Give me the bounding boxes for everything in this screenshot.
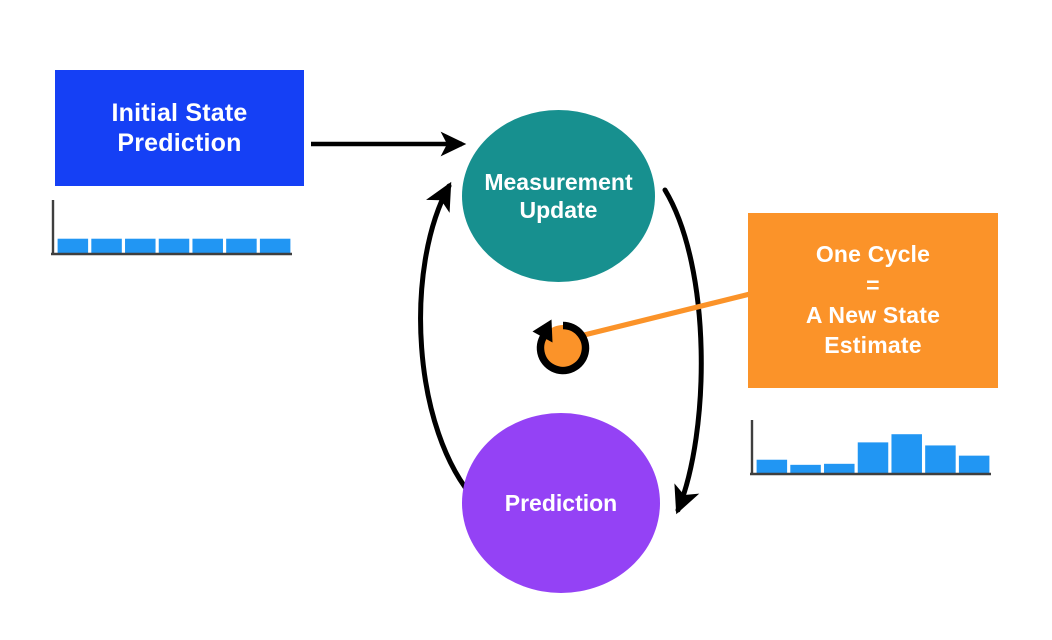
cycle-marker-icon [533,320,587,372]
bar [790,465,821,473]
initial-state-distribution-chart [46,200,296,262]
new-state-estimate-distribution-chart [745,420,995,482]
prediction-circle: Prediction [462,413,660,593]
one-cycle-equals: = [866,270,880,301]
one-cycle-line4: Estimate [824,331,921,361]
bar-chart-svg [46,200,296,262]
prediction-label: Prediction [505,489,617,517]
initial-state-line2: Prediction [117,128,241,159]
bar [925,445,956,473]
bar [91,239,122,253]
initial-state-line1: Initial State [112,98,248,129]
leader-line-cycle-to-label [576,294,750,337]
bar-chart-svg [745,420,995,482]
diagram-canvas: Initial State Prediction Measurement Upd… [0,0,1052,640]
one-cycle-line1: One Cycle [816,240,930,270]
bar [260,239,291,253]
one-cycle-callout-box: One Cycle = A New State Estimate [748,213,998,388]
bar [891,434,922,473]
arrow-prediction-to-measurement [421,186,476,501]
bar [824,464,855,473]
initial-state-prediction-box: Initial State Prediction [55,70,304,186]
bar [58,239,89,253]
measurement-update-line1: Measurement [484,168,632,196]
bar [159,239,190,253]
measurement-update-circle: Measurement Update [462,110,655,282]
bar [858,442,889,473]
bar [757,460,788,473]
bar [192,239,223,253]
bar [125,239,156,253]
bar [959,456,990,473]
bar [226,239,257,253]
arrow-measurement-to-prediction [665,190,701,510]
measurement-update-line2: Update [484,196,632,224]
one-cycle-line3: A New State [806,301,940,331]
